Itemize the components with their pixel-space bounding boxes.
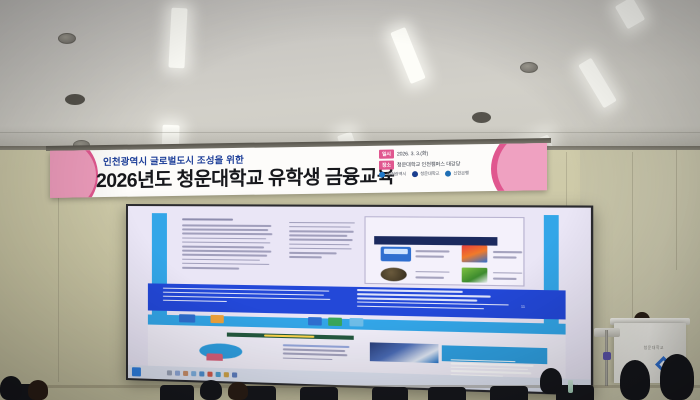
wall-seam <box>676 150 677 270</box>
lower-chip <box>328 317 342 326</box>
taskbar-app-icon[interactable] <box>207 372 212 377</box>
sponsor-mark-icon <box>379 172 385 178</box>
slide-photo-thumbnail <box>370 342 438 362</box>
ceiling-light <box>615 0 645 29</box>
person-illustration-icon <box>207 353 223 361</box>
sponsor-name: 신한은행 <box>453 170 468 176</box>
taskbar-icons[interactable] <box>167 370 237 377</box>
banner-meta-row-venue: 장소 청운대학교 인천캠퍼스 대강당 <box>379 159 507 170</box>
ceiling-speaker-icon <box>65 94 85 105</box>
meta-badge-venue: 장소 <box>379 161 394 170</box>
taskbar-app-icon[interactable] <box>175 371 180 376</box>
coin-icon <box>381 267 407 281</box>
banner-meta: 일시 2026. 3. 3.(화) 장소 청운대학교 인천캠퍼스 대강당 인천광… <box>379 148 507 178</box>
mic-adjust-knob <box>603 352 611 360</box>
sponsor-logo-row: 인천광역시 청운대학교 신한은행 <box>379 170 507 178</box>
presentation-slide: 11 <box>128 206 591 394</box>
slide-page-number: 11 <box>521 304 525 308</box>
lower-chip <box>349 318 363 327</box>
book-icon <box>461 267 487 283</box>
chair <box>300 387 338 400</box>
sponsor-logo: 신한은행 <box>445 170 468 176</box>
meta-text-venue: 청운대학교 인천캠퍼스 대강당 <box>397 160 460 168</box>
slide-panel-heading <box>374 236 498 245</box>
banner-meta-row-date: 일시 2026. 3. 3.(화) <box>379 148 507 159</box>
lower-section-heading <box>227 332 354 340</box>
ceiling-sprinkler-icon <box>58 33 76 44</box>
ceiling-sprinkler-icon <box>520 62 538 73</box>
audience-head <box>660 354 694 400</box>
panel-caption-line <box>492 257 516 259</box>
chair <box>490 386 528 400</box>
lower-chip <box>179 314 195 323</box>
audience-head <box>620 360 650 400</box>
slide-text-column-middle <box>289 222 358 262</box>
ceiling-speaker-icon <box>472 112 491 123</box>
event-banner: 인천광역시 글로벌도시 조성을 위한 2026년도 청운대학교 유학생 금융교육… <box>50 143 547 198</box>
sponsor-name: 청운대학교 <box>420 171 439 177</box>
ceiling-light <box>168 8 187 69</box>
taskbar-app-icon[interactable] <box>199 371 204 376</box>
taskbar-app-icon[interactable] <box>183 371 188 376</box>
chair <box>160 385 194 400</box>
audience-head <box>0 376 22 400</box>
taskbar-app-icon[interactable] <box>167 370 172 375</box>
taskbar-app-icon[interactable] <box>216 372 221 377</box>
lower-chip <box>211 314 225 323</box>
audience-head <box>228 382 248 400</box>
slide-note-box <box>442 345 547 364</box>
taskbar-app-icon[interactable] <box>191 371 196 376</box>
chair <box>556 385 594 400</box>
ceiling-seam <box>0 132 700 133</box>
lower-chip <box>308 317 322 326</box>
ceiling-light <box>390 27 425 84</box>
water-bottle <box>568 380 573 393</box>
audience-head <box>28 380 48 400</box>
start-button-icon[interactable] <box>132 367 141 376</box>
podium-label: 청운대학교 <box>644 345 664 351</box>
sponsor-logo: 인천광역시 <box>379 171 406 177</box>
slide-text-column-left <box>182 218 275 272</box>
ceiling <box>0 0 700 152</box>
chair <box>372 387 408 400</box>
sponsor-mark-icon <box>445 171 451 177</box>
desk-row-edge <box>0 385 700 388</box>
sponsor-mark-icon <box>412 171 418 177</box>
ceiling-light <box>578 58 617 109</box>
meta-badge-date: 일시 <box>379 150 394 159</box>
banner-title: 2026년도 청운대학교 유학생 금융교육 <box>96 159 394 193</box>
bus-icon <box>381 246 412 261</box>
taskbar-app-icon[interactable] <box>232 372 237 377</box>
card-icon <box>461 245 487 263</box>
lecture-hall-photo: 인천광역시 글로벌도시 조성을 위한 2026년도 청운대학교 유학생 금융교육… <box>0 0 700 400</box>
taskbar-app-icon[interactable] <box>224 372 229 377</box>
audience-head <box>540 368 562 394</box>
meta-text-date: 2026. 3. 3.(화) <box>397 150 428 157</box>
sponsor-name: 인천광역시 <box>387 171 406 177</box>
projection-screen: 11 <box>126 204 593 396</box>
audience-head <box>200 380 222 400</box>
chair <box>428 387 466 400</box>
sponsor-logo: 청운대학교 <box>412 171 439 177</box>
